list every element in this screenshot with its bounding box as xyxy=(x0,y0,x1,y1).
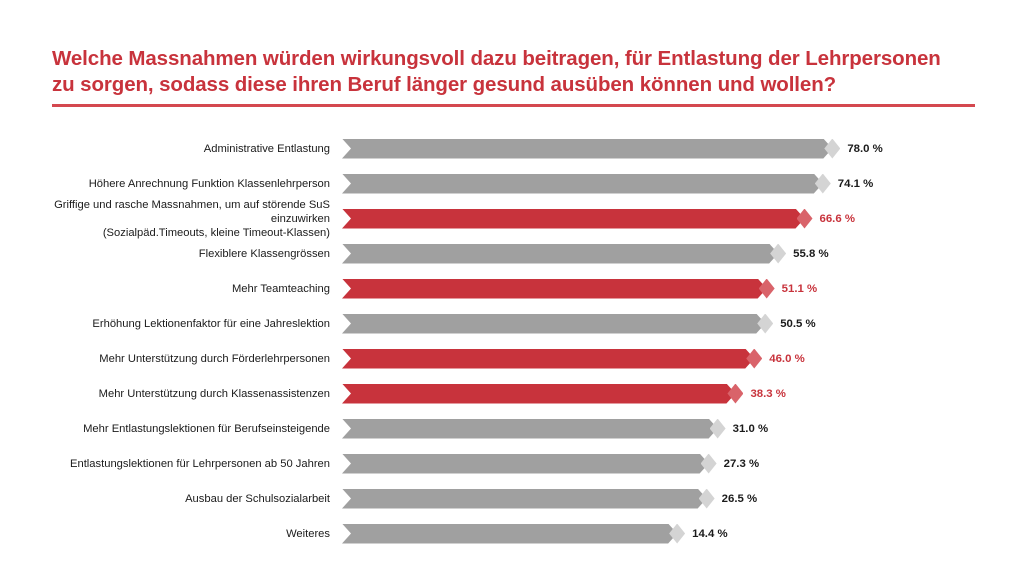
bar-row: Höhere Anrechnung Funktion Klassenlehrpe… xyxy=(0,166,1024,201)
bar-category-label: Mehr Entlastungslektionen für Berufseins… xyxy=(0,422,330,436)
bar-value-label: 55.8 % xyxy=(793,248,828,260)
bar-row: Ausbau der Schulsozialarbeit26.5 % xyxy=(0,481,1024,516)
bar-tip-diamond-icon xyxy=(759,279,775,299)
bar-value-label: 38.3 % xyxy=(750,388,785,400)
bar-segment xyxy=(342,489,707,509)
title-underline-rule xyxy=(52,104,975,107)
bar-tip-diamond-icon xyxy=(669,524,685,544)
bar-tip-diamond-icon xyxy=(757,314,773,334)
bar-category-label: Administrative Entlastung xyxy=(0,142,330,156)
bar-category-label: Weiteres xyxy=(0,527,330,541)
bar-category-label: Entlastungslektionen für Lehrpersonen ab… xyxy=(0,457,330,471)
bar-track: 74.1 % xyxy=(330,166,1024,201)
bar-segment xyxy=(342,524,677,544)
bar-tip-diamond-icon xyxy=(824,139,840,159)
title-block: Welche Massnahmen würden wirkungsvoll da… xyxy=(52,46,976,98)
bar-tip-diamond-icon xyxy=(746,349,762,369)
bar-track: 26.5 % xyxy=(330,481,1024,516)
bar-row: Flexiblere Klassengrössen55.8 % xyxy=(0,236,1024,271)
bar-track: 50.5 % xyxy=(330,306,1024,341)
bar-segment xyxy=(342,454,709,474)
bar-segment xyxy=(342,349,754,369)
bar-category-label: Mehr Teamteaching xyxy=(0,282,330,296)
bar-segment xyxy=(342,279,767,299)
bar-value-label: 27.3 % xyxy=(724,458,759,470)
bar-category-label: Flexiblere Klassengrössen xyxy=(0,247,330,261)
bar-category-label: Mehr Unterstützung durch Klassenassisten… xyxy=(0,387,330,401)
bar-track: 66.6 % xyxy=(330,201,1024,236)
bar-track: 46.0 % xyxy=(330,341,1024,376)
bar-value-label: 26.5 % xyxy=(722,493,757,505)
bar-value-label: 78.0 % xyxy=(847,143,882,155)
bar-track: 14.4 % xyxy=(330,516,1024,551)
bar-category-label: Höhere Anrechnung Funktion Klassenlehrpe… xyxy=(0,177,330,191)
chart-page: Welche Massnahmen würden wirkungsvoll da… xyxy=(0,0,1024,576)
bar-category-label: Ausbau der Schulsozialarbeit xyxy=(0,492,330,506)
bar-track: 51.1 % xyxy=(330,271,1024,306)
bar-value-label: 51.1 % xyxy=(782,283,817,295)
bar-value-label: 31.0 % xyxy=(733,423,768,435)
bar-value-label: 74.1 % xyxy=(838,178,873,190)
bar-value-label: 46.0 % xyxy=(769,353,804,365)
bar-segment xyxy=(342,419,718,439)
bar-track: 55.8 % xyxy=(330,236,1024,271)
bar-row: Mehr Teamteaching51.1 % xyxy=(0,271,1024,306)
bar-row: Mehr Unterstützung durch Förderlehrperso… xyxy=(0,341,1024,376)
bar-chart-plot: Administrative Entlastung78.0 %Höhere An… xyxy=(0,131,1024,551)
bar-segment xyxy=(342,244,778,264)
bar-tip-diamond-icon xyxy=(727,384,743,404)
bar-value-label: 14.4 % xyxy=(692,528,727,540)
bar-tip-diamond-icon xyxy=(710,419,726,439)
bar-track: 78.0 % xyxy=(330,131,1024,166)
bar-tip-diamond-icon xyxy=(701,454,717,474)
bar-tip-diamond-icon xyxy=(699,489,715,509)
bar-track: 31.0 % xyxy=(330,411,1024,446)
bar-row: Weiteres14.4 % xyxy=(0,516,1024,551)
page-title: Welche Massnahmen würden wirkungsvoll da… xyxy=(52,46,976,98)
bar-category-label: Erhöhung Lektionenfaktor für eine Jahres… xyxy=(0,317,330,331)
bar-category-label: Griffige und rasche Massnahmen, um auf s… xyxy=(0,198,330,240)
bar-value-label: 50.5 % xyxy=(780,318,815,330)
bar-row: Administrative Entlastung78.0 % xyxy=(0,131,1024,166)
bar-row: Griffige und rasche Massnahmen, um auf s… xyxy=(0,201,1024,236)
bar-value-label: 66.6 % xyxy=(820,213,855,225)
bar-category-label: Mehr Unterstützung durch Förderlehrperso… xyxy=(0,352,330,366)
bar-segment xyxy=(342,314,765,334)
bar-tip-diamond-icon xyxy=(815,174,831,194)
bar-tip-diamond-icon xyxy=(797,209,813,229)
bar-row: Erhöhung Lektionenfaktor für eine Jahres… xyxy=(0,306,1024,341)
bar-row: Mehr Unterstützung durch Klassenassisten… xyxy=(0,376,1024,411)
bar-tip-diamond-icon xyxy=(770,244,786,264)
bar-segment xyxy=(342,384,735,404)
bar-row: Entlastungslektionen für Lehrpersonen ab… xyxy=(0,446,1024,481)
bar-segment xyxy=(342,174,823,194)
bar-track: 27.3 % xyxy=(330,446,1024,481)
bar-segment xyxy=(342,139,832,159)
bar-track: 38.3 % xyxy=(330,376,1024,411)
bar-row: Mehr Entlastungslektionen für Berufseins… xyxy=(0,411,1024,446)
bar-segment xyxy=(342,209,805,229)
